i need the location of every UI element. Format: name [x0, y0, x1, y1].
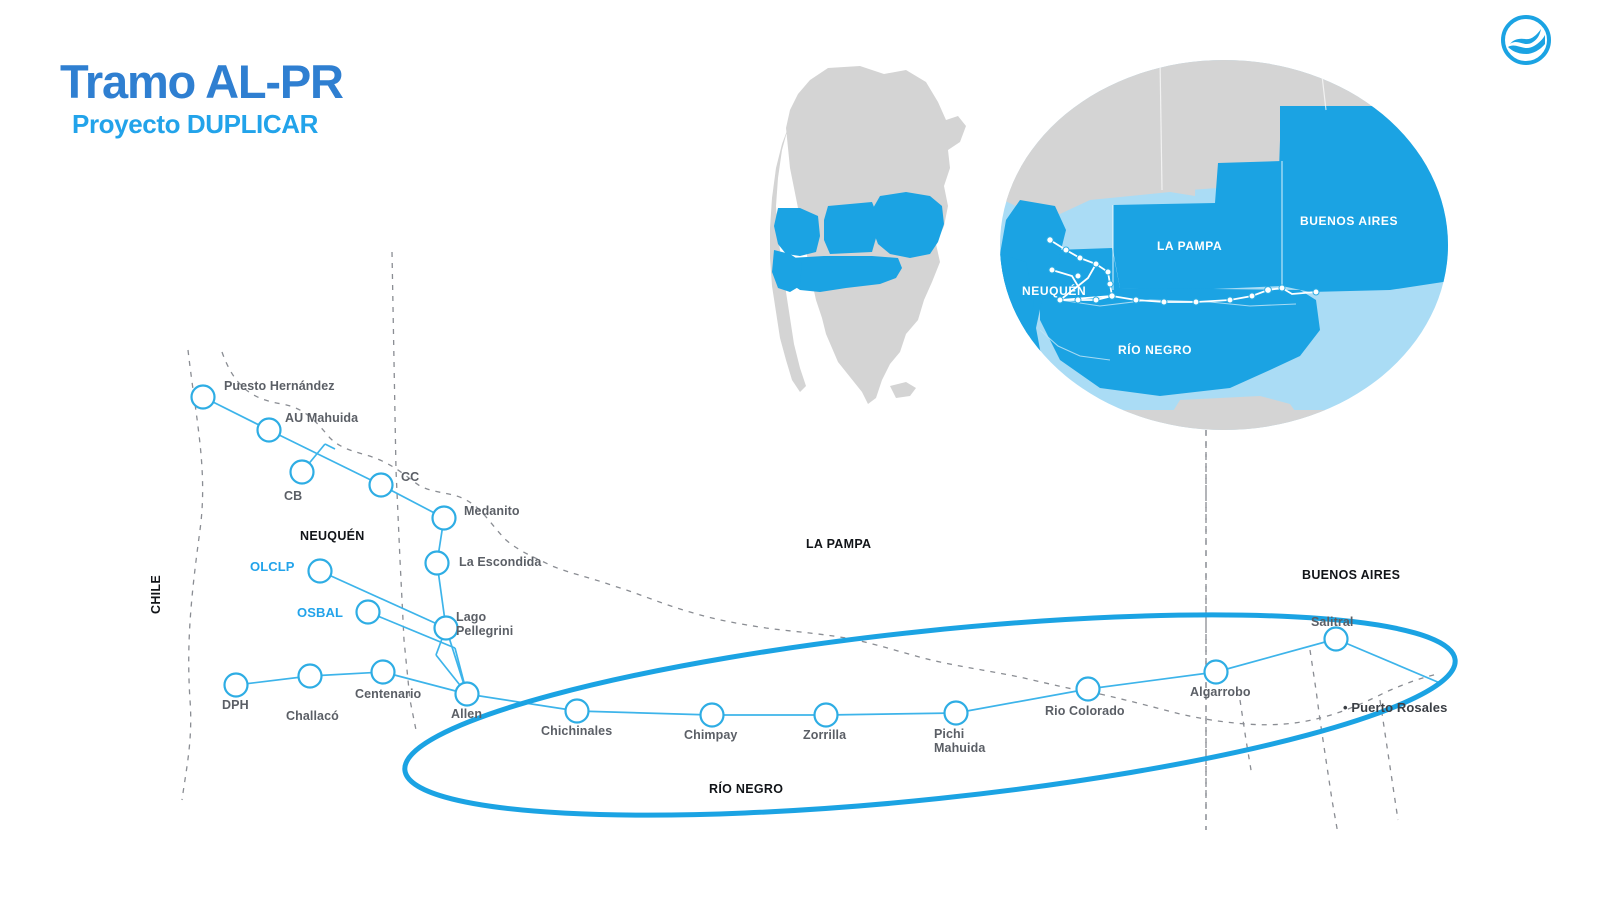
node-la-escondida	[426, 552, 449, 575]
inset-label-neuquen: NEUQUÉN	[1022, 284, 1086, 298]
label-osbal: OSBAL	[297, 605, 343, 620]
label-algarrobo: Algarrobo	[1190, 685, 1251, 699]
inset-province-rio-negro	[1040, 248, 1320, 396]
label-zorrilla: Zorrilla	[803, 728, 846, 742]
node-medanito	[433, 507, 456, 530]
node-zorrilla	[815, 704, 838, 727]
node-lago-pellegrini	[435, 617, 458, 640]
province-buenos-aires	[872, 192, 944, 258]
label-pichi-mahuida: PichiMahuida	[934, 727, 985, 756]
page-title: Tramo AL-PR	[60, 58, 343, 105]
province-label-neuquen: NEUQUÉN	[300, 529, 365, 543]
oldelval-logo-icon	[1500, 14, 1552, 66]
label-dph: DPH	[222, 698, 249, 712]
label-challaco: Challacó	[286, 709, 339, 723]
node-osbal	[357, 601, 380, 624]
node-olclp	[309, 560, 332, 583]
label-cc: CC	[401, 470, 419, 484]
node-pichi-mahuida	[945, 702, 968, 725]
node-au-mahuida	[258, 419, 281, 442]
page-subtitle: Proyecto DUPLICAR	[72, 111, 343, 137]
label-puerto-rosales: • Puerto Rosales	[1343, 700, 1447, 715]
province-label-chile: CHILE	[149, 575, 163, 614]
label-medanito: Medanito	[464, 504, 520, 518]
node-chimpay	[701, 704, 724, 727]
label-puesto-hernandez: Puesto Hernández	[224, 379, 335, 393]
argentina-overview-map	[770, 66, 966, 404]
label-lago-pellegrini: LagoPellegrini	[456, 610, 513, 639]
label-au-mahuida: AU Mahuida	[285, 411, 358, 425]
label-centenario: Centenario	[355, 687, 421, 701]
label-allen: Allen	[451, 707, 482, 721]
inset-province-la-pampa	[1113, 161, 1282, 290]
province-label-la-pampa: LA PAMPA	[806, 537, 871, 551]
node-challaco	[299, 665, 322, 688]
node-chichinales	[566, 700, 589, 723]
province-la-pampa	[824, 202, 876, 254]
node-allen	[456, 683, 479, 706]
province-label-buenos-aires: BUENOS AIRES	[1302, 568, 1400, 582]
node-rio-colorado	[1077, 678, 1100, 701]
label-salitral: Salitral	[1311, 615, 1354, 629]
node-cc	[370, 474, 393, 497]
label-chichinales: Chichinales	[541, 724, 612, 738]
label-olclp: OLCLP	[250, 559, 295, 574]
label-chimpay: Chimpay	[684, 728, 738, 742]
node-dph	[225, 674, 248, 697]
pipeline-nodes	[192, 386, 1348, 727]
node-algarrobo	[1205, 661, 1228, 684]
label-la-escondida: La Escondida	[459, 555, 541, 569]
node-cb	[291, 461, 314, 484]
inset-province-buenos-aires	[1278, 106, 1470, 292]
inset-label-buenos-aires: BUENOS AIRES	[1300, 214, 1398, 228]
tramo-al-pr-highlight-ellipse	[396, 576, 1464, 853]
pipeline-links	[203, 397, 1440, 715]
province-label-rio-negro: RÍO NEGRO	[709, 782, 783, 796]
label-rio-colorado: Rio Colorado	[1045, 704, 1125, 718]
slide-canvas: Tramo AL-PR Proyecto DUPLICAR	[0, 0, 1600, 900]
node-puesto-hernandez	[192, 386, 215, 409]
province-neuquen	[774, 208, 820, 256]
inset-label-la-pampa: LA PAMPA	[1157, 239, 1222, 253]
node-salitral	[1325, 628, 1348, 651]
label-cb: CB	[284, 489, 302, 503]
inset-label-rio-negro: RÍO NEGRO	[1118, 343, 1192, 357]
node-centenario	[372, 661, 395, 684]
province-rio-negro	[788, 256, 902, 292]
title-block: Tramo AL-PR Proyecto DUPLICAR	[60, 58, 343, 137]
